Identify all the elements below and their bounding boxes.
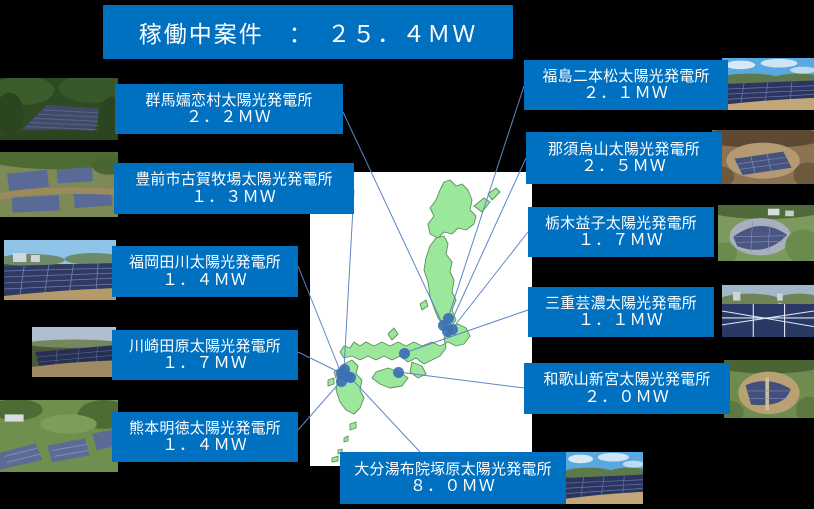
plant-label-大分湯布院塚原太陽光発電所-10[interactable]: 大分湯布院塚原太陽光発電所８．０ＭＷ — [340, 452, 566, 504]
plant-name: 群馬嬬恋村太陽光発電所 — [145, 92, 312, 109]
plant-label-栃木益子太陽光発電所-7[interactable]: 栃木益子太陽光発電所１．７ＭＷ — [528, 207, 714, 257]
plant-capacity: １．４ＭＷ — [162, 271, 248, 289]
plant-photo-群馬嬬恋村太陽光発電所-0 — [0, 78, 118, 140]
plant-name: 那須烏山太陽光発電所 — [548, 141, 700, 158]
plant-name: 豊前市古賀牧場太陽光発電所 — [135, 171, 333, 188]
plant-name: 福岡田川太陽光発電所 — [129, 254, 281, 271]
plant-capacity: ２．１ＭＷ — [583, 84, 669, 102]
plant-name: 大分湯布院塚原太陽光発電所 — [354, 461, 552, 478]
plant-label-那須烏山太陽光発電所-6[interactable]: 那須烏山太陽光発電所２．５ＭＷ — [526, 132, 722, 184]
japan-map — [316, 176, 530, 464]
plant-name: 和歌山新宮太陽光発電所 — [543, 371, 710, 388]
plant-photo-大分湯布院塚原太陽光発電所-10 — [565, 452, 643, 504]
plant-label-豊前市古賀牧場太陽光発電所-1[interactable]: 豊前市古賀牧場太陽光発電所１．３ＭＷ — [114, 163, 354, 214]
map-marker-tochigi-mashiko[interactable] — [447, 324, 458, 335]
plant-capacity: ８．０ＭＷ — [410, 477, 496, 495]
plant-capacity: ２．０ＭＷ — [584, 388, 670, 406]
plant-capacity: １．７ＭＷ — [578, 231, 664, 249]
plant-photo-熊本明徳太陽光発電所-4 — [0, 400, 118, 472]
plant-capacity: １．７ＭＷ — [162, 354, 248, 372]
plant-photo-那須烏山太陽光発電所-6 — [712, 130, 814, 184]
plant-label-福岡田川太陽光発電所-2[interactable]: 福岡田川太陽光発電所１．４ＭＷ — [112, 246, 298, 297]
plant-photo-福島二本松太陽光発電所-5 — [722, 58, 814, 110]
plant-photo-福岡田川太陽光発電所-2 — [4, 240, 116, 300]
map-marker-mie-geino[interactable] — [399, 348, 410, 359]
plant-capacity: ２．５ＭＷ — [581, 157, 667, 175]
map-marker-fukushima-nihonmatsu[interactable] — [443, 313, 454, 324]
plant-label-川崎田原太陽光発電所-3[interactable]: 川崎田原太陽光発電所１．７ＭＷ — [112, 330, 298, 380]
plant-name: 三重芸濃太陽光発電所 — [545, 295, 697, 312]
plant-name: 栃木益子太陽光発電所 — [545, 215, 697, 232]
page-title-text: 稼働中案件 ： ２５．４ＭＷ — [139, 15, 478, 49]
plant-name: 川崎田原太陽光発電所 — [129, 338, 281, 355]
plant-label-熊本明徳太陽光発電所-4[interactable]: 熊本明徳太陽光発電所１．４ＭＷ — [112, 412, 298, 462]
plant-label-三重芸濃太陽光発電所-8[interactable]: 三重芸濃太陽光発電所１．１ＭＷ — [528, 287, 714, 337]
plant-photo-豊前市古賀牧場太陽光発電所-1 — [0, 152, 118, 217]
plant-label-福島二本松太陽光発電所-5[interactable]: 福島二本松太陽光発電所２．１ＭＷ — [524, 60, 728, 110]
plant-name: 福島二本松太陽光発電所 — [542, 68, 709, 85]
map-marker-wakayama-shingu[interactable] — [393, 367, 404, 378]
slide-canvas: 稼働中案件 ： ２５．４ＭＷ — [0, 0, 814, 509]
plant-label-群馬嬬恋村太陽光発電所-0[interactable]: 群馬嬬恋村太陽光発電所２．２ＭＷ — [115, 84, 343, 134]
plant-photo-川崎田原太陽光発電所-3 — [32, 327, 116, 377]
plant-label-和歌山新宮太陽光発電所-9[interactable]: 和歌山新宮太陽光発電所２．０ＭＷ — [524, 363, 730, 414]
plant-photo-栃木益子太陽光発電所-7 — [718, 205, 814, 261]
plant-photo-三重芸濃太陽光発電所-8 — [722, 285, 814, 337]
plant-photo-和歌山新宮太陽光発電所-9 — [724, 360, 814, 418]
plant-capacity: ２．２ＭＷ — [186, 108, 272, 126]
page-title: 稼働中案件 ： ２５．４ＭＷ — [103, 5, 513, 59]
plant-capacity: １．３ＭＷ — [191, 188, 277, 206]
plant-capacity: １．１ＭＷ — [578, 311, 664, 329]
map-marker-oita-yufuin[interactable] — [345, 372, 356, 383]
plant-capacity: １．４ＭＷ — [162, 436, 248, 454]
plant-name: 熊本明徳太陽光発電所 — [129, 420, 281, 437]
